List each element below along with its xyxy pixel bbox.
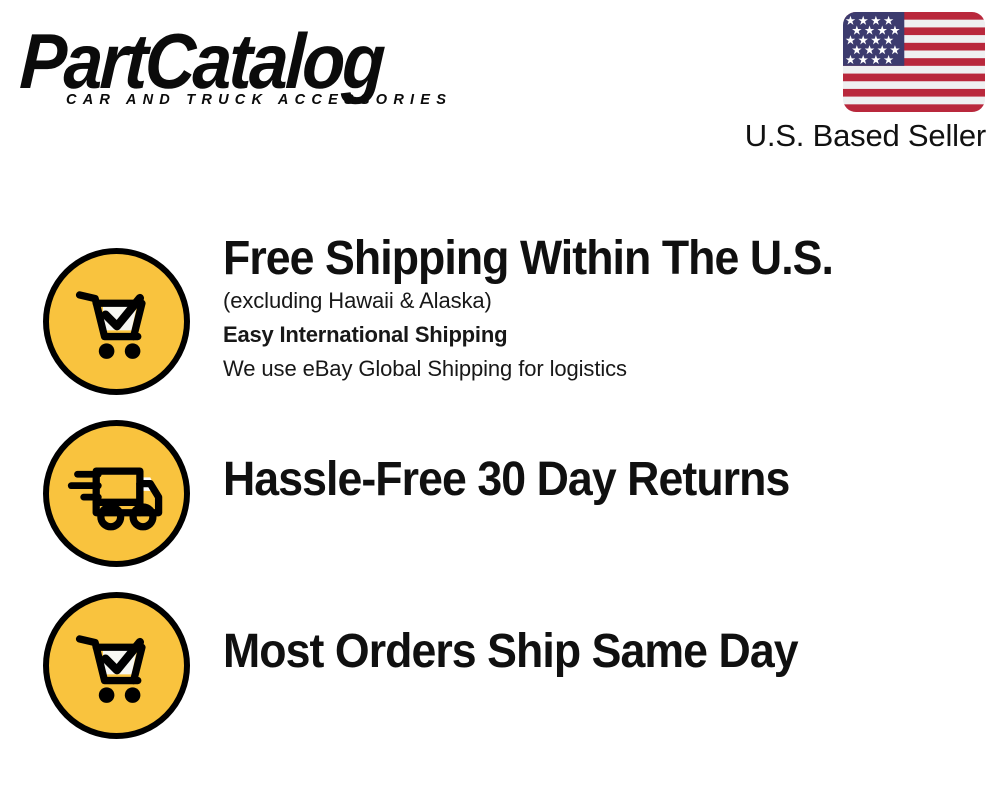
brand-tagline: CAR AND TRUCK ACCESSORIES bbox=[66, 92, 452, 108]
feature-text: Hassle-Free 30 Day Returns bbox=[223, 455, 963, 505]
feature-text: Most Orders Ship Same Day bbox=[223, 627, 963, 677]
delivery-truck-icon bbox=[43, 420, 190, 567]
us-based-seller-label: U.S. Based Seller bbox=[745, 118, 986, 154]
feature-title: Free Shipping Within The U.S. bbox=[223, 234, 911, 284]
cart-check-icon bbox=[43, 592, 190, 739]
feature-title: Hassle-Free 30 Day Returns bbox=[223, 455, 911, 505]
feature-subtitle-1: (excluding Hawaii & Alaska) bbox=[223, 284, 963, 318]
brand-wordmark: PartCatalog bbox=[18, 22, 384, 100]
feature-subtitle-3: We use eBay Global Shipping for logistic… bbox=[223, 352, 963, 386]
feature-text: Free Shipping Within The U.S. (excluding… bbox=[223, 234, 963, 386]
feature-title: Most Orders Ship Same Day bbox=[223, 627, 911, 677]
promo-banner: PartCatalog CAR AND TRUCK ACCESSORIES bbox=[0, 0, 1000, 800]
brand-logo: PartCatalog CAR AND TRUCK ACCESSORIES bbox=[22, 22, 492, 114]
us-flag-icon bbox=[843, 12, 985, 112]
cart-check-icon bbox=[43, 248, 190, 395]
feature-subtitle-2: Easy International Shipping bbox=[223, 318, 963, 352]
